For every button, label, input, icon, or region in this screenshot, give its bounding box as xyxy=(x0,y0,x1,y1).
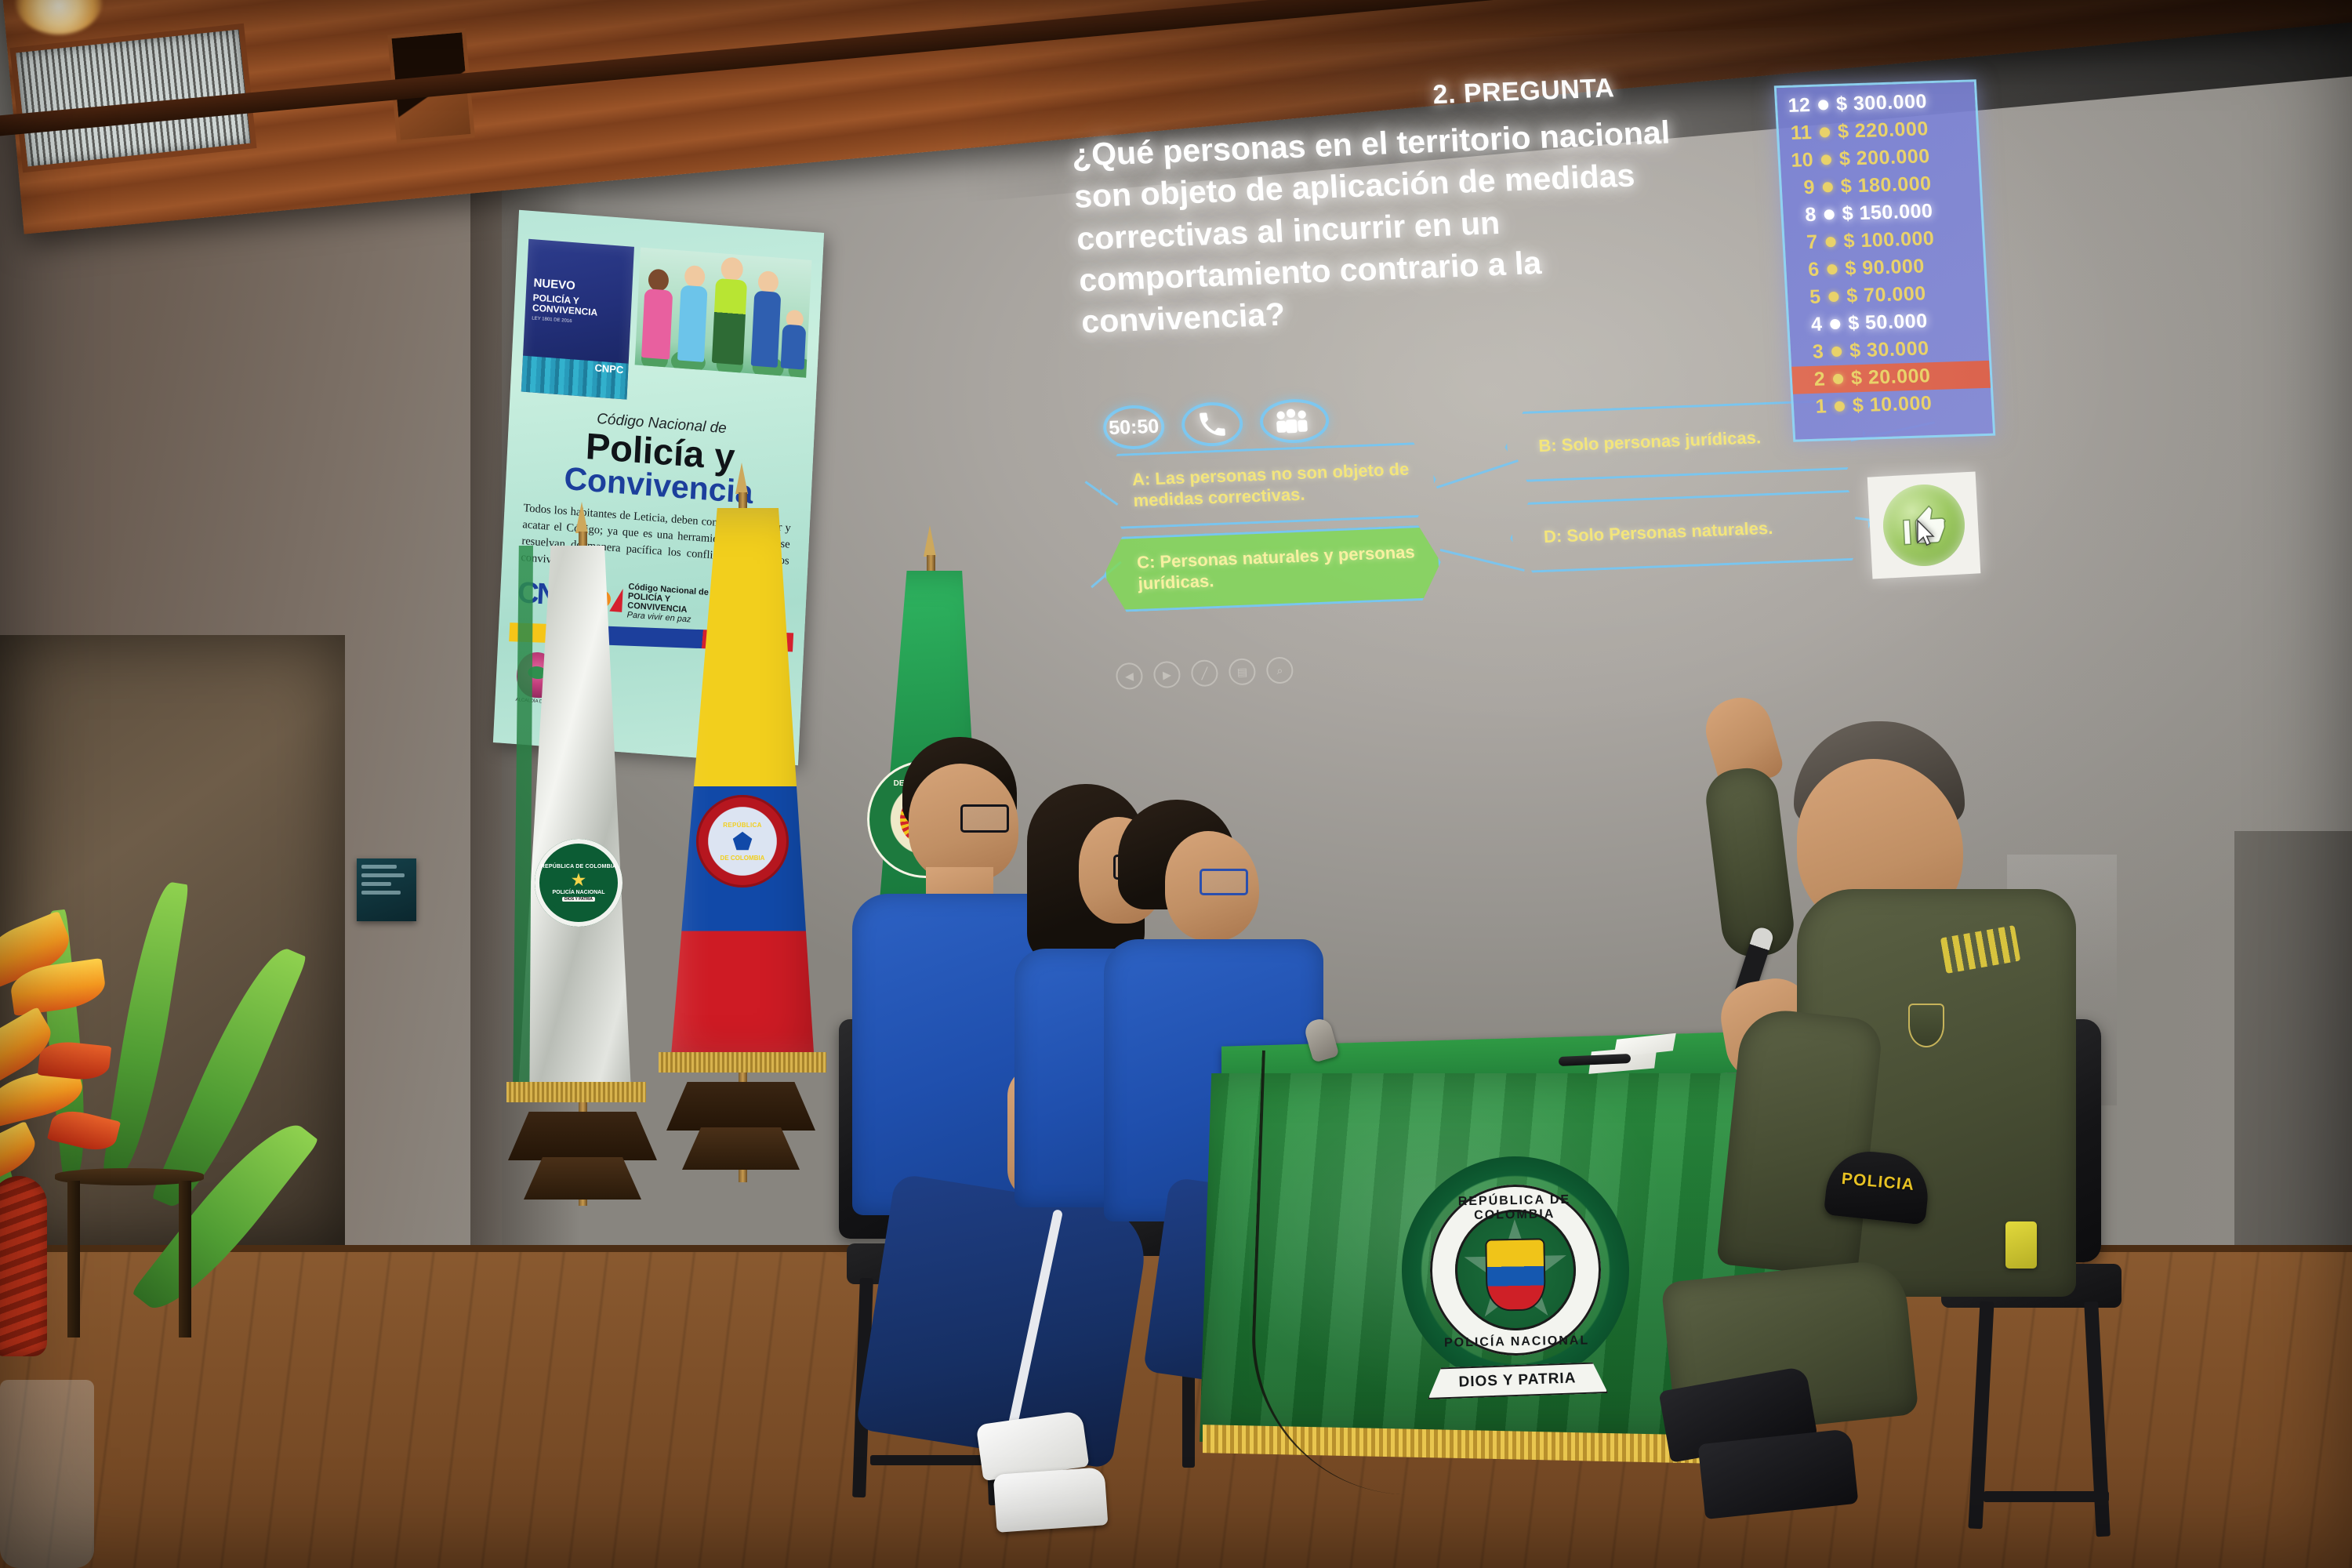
ladder-dot-5 xyxy=(1828,292,1839,302)
ladder-dot-8 xyxy=(1824,209,1835,220)
presenter-toolbar[interactable]: ◀ ▶ ╱ ▤ ⌕ xyxy=(1116,656,1294,690)
slide-question-text: ¿Qué personas en el territorio nacional … xyxy=(1071,111,1702,343)
ladder-amount-9: $ 180.000 xyxy=(1840,172,1932,198)
ladder-amount-12: $ 300.000 xyxy=(1835,90,1927,116)
answer-connector-cd xyxy=(1440,549,1525,572)
microphone-cable xyxy=(1247,1051,1512,1498)
police-cap-text: POLICIA xyxy=(1841,1170,1915,1195)
ladder-level-5: 5 xyxy=(1794,286,1822,310)
flag-fringe-white xyxy=(506,1082,646,1102)
phone-icon xyxy=(1196,409,1229,438)
ladder-level-9: 9 xyxy=(1788,176,1816,200)
banner-illustration xyxy=(635,248,812,378)
answers-group: A: Las personas no son objeto de medidas… xyxy=(1097,419,1914,614)
answer-option-c[interactable]: C: Personas naturales y personas jurídic… xyxy=(1102,524,1443,612)
ladder-amount-10: $ 200.000 xyxy=(1838,145,1930,171)
answer-connector-ab xyxy=(1436,459,1519,488)
ladder-dot-10 xyxy=(1821,154,1832,165)
wall-plaque xyxy=(357,858,416,921)
ladder-dot-1 xyxy=(1835,401,1846,412)
flag-emblem-white-ribbon: DIOS Y PATRIA xyxy=(562,897,595,902)
next-slide-button[interactable]: ▶ xyxy=(1152,661,1181,688)
flag-base-colombia xyxy=(666,1082,815,1131)
banner-book-mark: CNPC xyxy=(594,362,623,376)
pen-tool-button[interactable]: ╱ xyxy=(1190,659,1218,687)
flag-colombia: REPÚBLICA ⬟ DE COLOMBIA xyxy=(635,463,855,1309)
phone-a-friend-lifeline[interactable] xyxy=(1181,401,1244,448)
flag-emblem-colombia: REPÚBLICA ⬟ DE COLOMBIA xyxy=(696,795,789,887)
flag-cloth-colombia xyxy=(652,508,833,1065)
answer-option-d-label: D: Solo Personas naturales. xyxy=(1543,517,1773,547)
ladder-dot-7 xyxy=(1825,237,1836,247)
police-officer-host xyxy=(1709,721,2148,1552)
ladder-dot-2 xyxy=(1833,374,1844,384)
contestant-1-glasses xyxy=(960,804,1009,833)
ladder-level-4: 4 xyxy=(1795,314,1824,337)
flag-finial-white xyxy=(575,502,588,533)
ladder-level-2: 2 xyxy=(1798,368,1826,391)
contestant-1-shoe-right xyxy=(993,1467,1109,1533)
flag-base-white-lower xyxy=(524,1157,641,1200)
host-radio xyxy=(2005,1221,2037,1269)
all-slides-icon: ▤ xyxy=(1236,665,1247,678)
flag-finial-department xyxy=(924,525,936,557)
audience-icon xyxy=(1273,407,1316,435)
side-table xyxy=(55,1168,204,1348)
banner-book-cover: NUEVO POLICÍA Y CONVIVENCIA LEY 1801 DE … xyxy=(521,239,634,400)
ladder-dot-3 xyxy=(1831,347,1842,357)
flag-emblem-white: REPÚBLICA DE COLOMBIA ★ POLICÍA NACIONAL… xyxy=(535,839,622,927)
all-slides-button[interactable]: ▤ xyxy=(1228,658,1256,685)
ladder-level-8: 8 xyxy=(1789,204,1817,227)
answer-option-d[interactable]: D: Solo Personas naturales. xyxy=(1508,489,1873,574)
flag-emblem-colombia-bottom: DE COLOMBIA xyxy=(720,855,765,862)
fifty-fifty-label: 50:50 xyxy=(1108,415,1160,439)
scene-root: 2. PREGUNTA ¿Qué personas en el territor… xyxy=(0,0,2352,1568)
next-slide-icon: ▶ xyxy=(1163,668,1172,681)
ladder-amount-5: $ 70.000 xyxy=(1846,282,1927,307)
ladder-level-12: 12 xyxy=(1783,94,1811,118)
answer-option-a[interactable]: A: Las personas no son objeto de medidas… xyxy=(1097,441,1438,529)
host-police-patch xyxy=(1908,1004,1944,1047)
zoom-slide-icon: ⌕ xyxy=(1276,663,1283,677)
ladder-amount-3: $ 30.000 xyxy=(1849,337,1929,362)
ladder-row-1: 1$ 10.000 xyxy=(1793,388,1992,422)
ladder-level-10: 10 xyxy=(1786,149,1814,172)
mouse-cursor-icon xyxy=(1915,519,1936,547)
flag-emblem-white-top: REPÚBLICA DE COLOMBIA xyxy=(541,864,617,870)
ladder-amount-4: $ 50.000 xyxy=(1848,310,1929,335)
ladder-dot-11 xyxy=(1820,127,1831,137)
flag-emblem-white-bottom: POLICÍA NACIONAL xyxy=(552,890,604,896)
ladder-amount-11: $ 220.000 xyxy=(1837,118,1929,143)
host-boot-right xyxy=(1698,1428,1859,1519)
ladder-dot-12 xyxy=(1818,100,1829,110)
banner-book-skyline xyxy=(521,356,629,400)
ladder-amount-1: $ 10.000 xyxy=(1852,392,1933,417)
answer-option-a-label: A: Las personas no son objeto de medidas… xyxy=(1131,459,1414,512)
ladder-amount-8: $ 150.000 xyxy=(1842,200,1933,226)
answer-option-b-label: B: Solo personas jurídicas. xyxy=(1538,427,1762,457)
host-forearm xyxy=(1716,1006,1884,1278)
zoom-slide-button[interactable]: ⌕ xyxy=(1265,656,1294,684)
ladder-dot-6 xyxy=(1827,264,1838,274)
ask-the-audience-lifeline[interactable] xyxy=(1259,397,1330,444)
ladder-dot-4 xyxy=(1830,319,1841,329)
right-doorway xyxy=(2234,831,2352,1270)
prev-slide-icon: ◀ xyxy=(1125,670,1134,683)
flag-emblem-colombia-top: REPÚBLICA xyxy=(723,822,761,829)
answer-option-c-label: C: Personas naturales y personas jurídic… xyxy=(1136,542,1419,594)
host-raised-arm xyxy=(1703,764,1798,960)
ladder-amount-2: $ 20.000 xyxy=(1850,365,1931,390)
ladder-level-6: 6 xyxy=(1792,259,1820,282)
ladder-amount-6: $ 90.000 xyxy=(1845,255,1926,280)
flower-vase xyxy=(0,1380,94,1568)
pen-tool-icon: ╱ xyxy=(1201,666,1208,680)
ladder-level-3: 3 xyxy=(1796,340,1824,364)
flag-finial-colombia xyxy=(735,463,748,494)
flag-fringe-colombia xyxy=(659,1052,826,1073)
prev-slide-button[interactable]: ◀ xyxy=(1116,662,1144,690)
contestant-3-glasses xyxy=(1200,869,1248,895)
fifty-fifty-lifeline[interactable]: 50:50 xyxy=(1102,405,1166,451)
ladder-level-11: 11 xyxy=(1784,122,1813,145)
banner-top-row: NUEVO POLICÍA Y CONVIVENCIA LEY 1801 DE … xyxy=(521,239,812,417)
ladder-dot-9 xyxy=(1822,182,1833,192)
ladder-level-7: 7 xyxy=(1791,231,1819,255)
ladder-level-1: 1 xyxy=(1799,395,1828,419)
ladder-amount-7: $ 100.000 xyxy=(1843,227,1935,253)
flag-base-colombia-lower xyxy=(682,1127,800,1170)
money-ladder: 12$ 300.000 11$ 220.000 10$ 200.000 9$ 1… xyxy=(1774,79,1996,441)
